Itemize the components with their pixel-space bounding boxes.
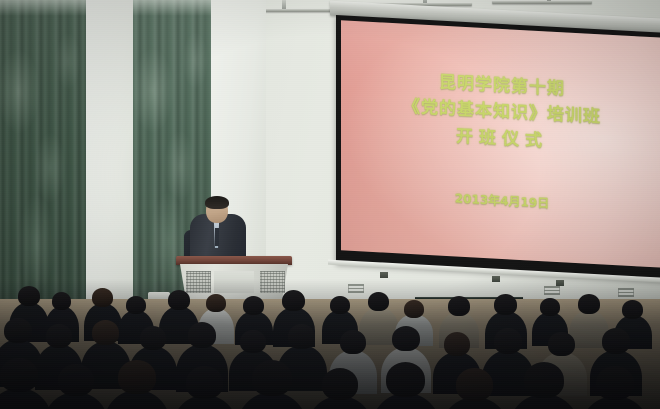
audience-shadow-gradient [0, 279, 660, 409]
screen-frame: 昆明学院第十期 《党的基本知识》培训班 开班仪式 2013年4月19日 [336, 15, 660, 281]
wall-pillar-left [84, 0, 136, 300]
lectern-top [176, 256, 292, 265]
projection-screen: 昆明学院第十期 《党的基本知识》培训班 开班仪式 2013年4月19日 [336, 7, 660, 291]
curtain-highlight [133, 0, 211, 16]
rail-bracket [282, 0, 286, 9]
speaker-tie [215, 228, 219, 246]
curtain-rail [492, 0, 592, 4]
rail-bracket [547, 0, 551, 1]
screen-surface: 昆明学院第十期 《党的基本知识》培训班 开班仪式 2013年4月19日 [341, 20, 660, 267]
screen-wall-bracket [380, 272, 388, 278]
rail-bracket [423, 0, 427, 3]
lecture-hall-photo: 昆明学院第十期 《党的基本知识》培训班 开班仪式 2013年4月19日 [0, 0, 660, 409]
slide-date: 2013年4月19日 [341, 183, 660, 217]
speaker-hair [205, 196, 229, 209]
window-curtain-left [0, 0, 86, 305]
curtain-texture [0, 0, 86, 305]
curtain-highlight [0, 0, 86, 16]
